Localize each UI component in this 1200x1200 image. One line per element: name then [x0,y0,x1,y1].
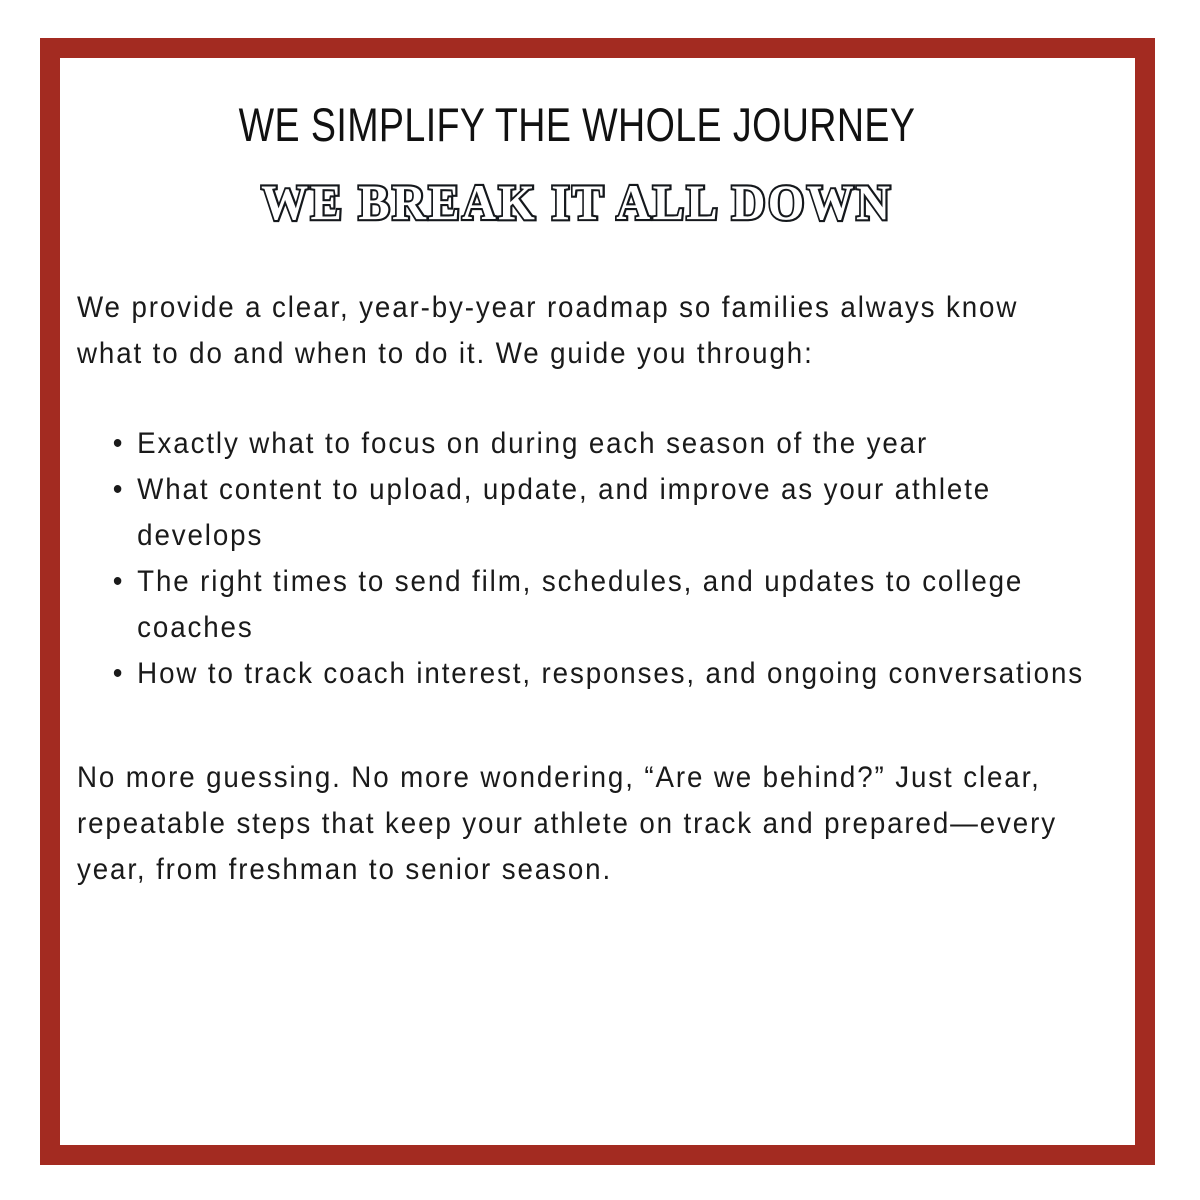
poster-canvas: WE SIMPLIFY THE WHOLE JOURNEY WE BREAK I… [0,0,1200,1200]
list-item: • What content to upload, update, and im… [113,467,1109,559]
list-item: • How to track coach interest, responses… [113,651,1109,697]
list-item-label: The right times to send film, schedules,… [137,559,1109,651]
list-item-label: What content to upload, update, and impr… [137,467,1109,559]
list-item: • Exactly what to focus on during each s… [113,421,1109,467]
list-item-label: How to track coach interest, responses, … [137,651,1109,697]
bullet-marker-icon: • [113,559,125,605]
list-item: • The right times to send film, schedule… [113,559,1109,651]
feature-bullet-list: • Exactly what to focus on during each s… [77,421,1109,697]
poster-content: WE SIMPLIFY THE WHOLE JOURNEY WE BREAK I… [77,100,1077,922]
closing-paragraph: No more guessing. No more wondering, “Ar… [77,755,1073,893]
list-item-label: Exactly what to focus on during each sea… [137,421,1109,467]
decorative-subtitle-label: WE BREAK IT ALL DOWN [261,173,892,231]
bullet-marker-icon: • [113,651,125,697]
page-title: WE SIMPLIFY THE WHOLE JOURNEY [177,100,977,151]
intro-paragraph: We provide a clear, year-by-year roadmap… [77,285,1073,377]
bullet-marker-icon: • [113,421,125,467]
decorative-subtitle: WE BREAK IT ALL DOWN WE BREAK IT ALL DOW… [77,173,1077,227]
bullet-marker-icon: • [113,467,125,513]
